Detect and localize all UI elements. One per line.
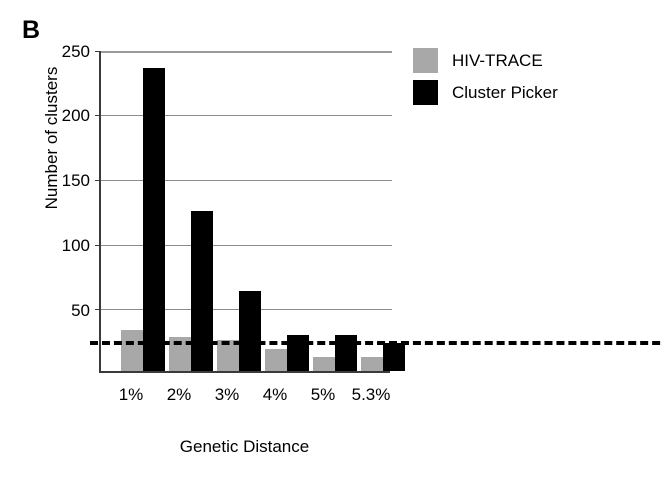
legend-label: Cluster Picker xyxy=(452,84,558,101)
y-tick-label: 200 xyxy=(30,107,90,124)
bar-cluster-picker-1pct xyxy=(143,68,165,371)
legend-item-cluster-picker: Cluster Picker xyxy=(413,76,558,108)
y-tick-mark xyxy=(95,180,101,181)
y-tick-mark xyxy=(95,51,101,52)
x-axis-tick-labels: 1% 2% 3% 4% 5% 5.3% xyxy=(99,386,390,410)
y-tick-mark xyxy=(95,115,101,116)
y-axis-tick-labels: 250 200 150 100 50 xyxy=(22,51,90,373)
legend-swatch-black-icon xyxy=(413,80,438,105)
legend-item-hiv-trace: HIV-TRACE xyxy=(413,44,558,76)
legend-label: HIV-TRACE xyxy=(452,52,543,69)
bar-cluster-picker-5-3pct xyxy=(383,343,405,371)
x-tick-label: 5.3% xyxy=(336,386,406,403)
plot-area xyxy=(99,51,390,373)
bar-hiv-trace-1pct xyxy=(121,330,143,371)
legend-swatch-gray-icon xyxy=(413,48,438,73)
y-tick-label: 250 xyxy=(30,43,90,60)
y-tick-label: 150 xyxy=(30,172,90,189)
gridline-250 xyxy=(101,51,392,53)
bar-hiv-trace-4pct xyxy=(265,349,287,371)
chart-legend: HIV-TRACE Cluster Picker xyxy=(413,44,558,108)
bar-cluster-picker-3pct xyxy=(239,291,261,371)
y-tick-label: 50 xyxy=(30,302,90,319)
bar-hiv-trace-5pct xyxy=(313,357,335,371)
threshold-line xyxy=(90,341,664,345)
y-tick-label: 100 xyxy=(30,237,90,254)
panel-label: B xyxy=(22,18,40,43)
x-axis-title: Genetic Distance xyxy=(99,437,390,457)
bar-hiv-trace-5-3pct xyxy=(361,357,383,371)
y-tick-mark xyxy=(95,245,101,246)
bar-cluster-picker-2pct xyxy=(191,211,213,371)
y-tick-mark xyxy=(95,309,101,310)
